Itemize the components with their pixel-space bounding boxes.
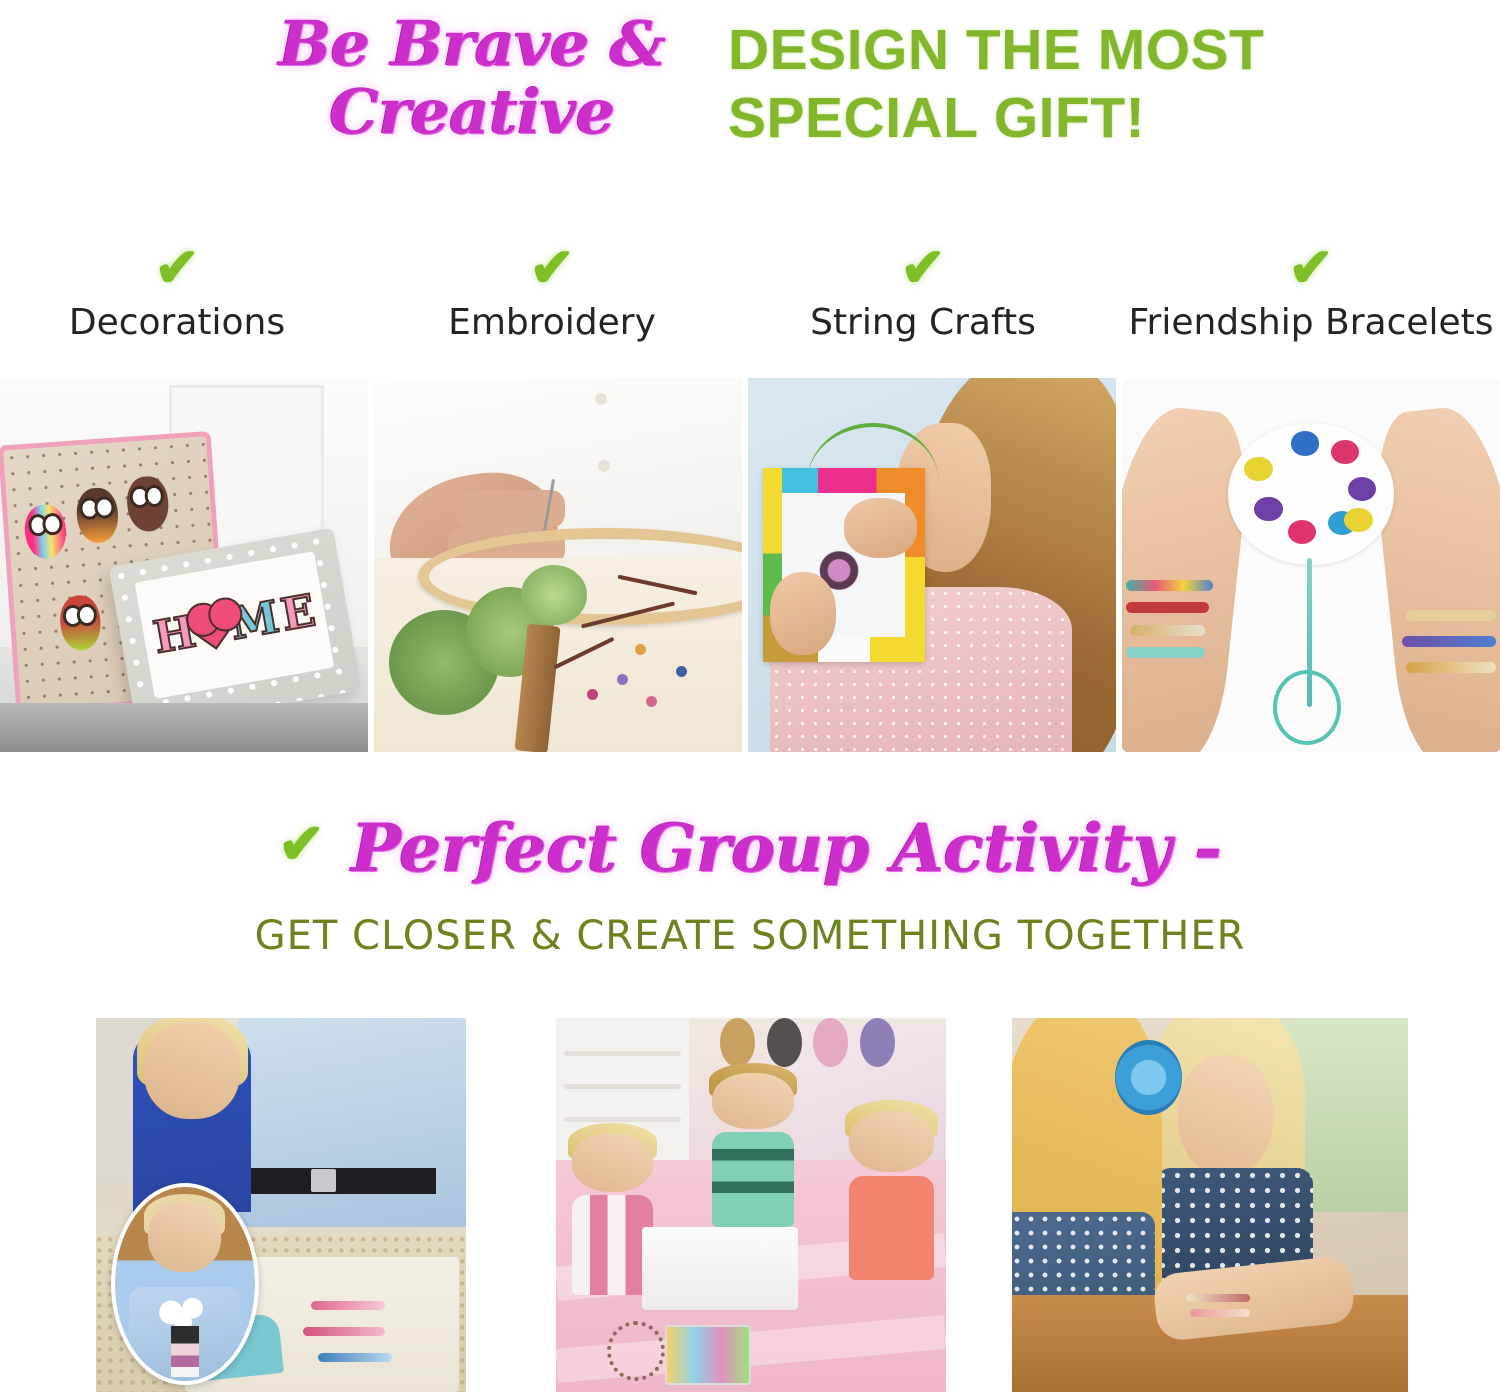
headline-script-line2: Creative <box>232 76 712 148</box>
check-icon: ✔ <box>432 240 672 296</box>
group-activity-section: ✔ Perfect Group Activity - GET CLOSER & … <box>0 805 1500 1000</box>
top-photo-row: H M E <box>0 378 1500 754</box>
headline-green: DESIGN THE MOST SPECIAL GIFT! <box>728 16 1368 152</box>
feature-label: String Crafts <box>798 302 1048 343</box>
photo-friendship-bracelets <box>1122 378 1500 752</box>
photo-family-crafting <box>96 1018 466 1392</box>
inset-portrait <box>111 1183 259 1385</box>
heart-icon <box>193 608 235 650</box>
check-icon: ✔ <box>52 240 302 296</box>
feature-item-decorations: ✔ Decorations <box>52 240 302 343</box>
header-banner: Be Brave & Creative DESIGN THE MOST SPEC… <box>0 0 1500 195</box>
feature-item-embroidery: ✔ Embroidery <box>432 240 672 343</box>
group-activity-heading: ✔ Perfect Group Activity - <box>278 805 1222 891</box>
photo-decorations: H M E <box>0 378 368 752</box>
home-letter-e: E <box>278 590 319 639</box>
feature-list: ✔ Decorations ✔ Embroidery ✔ String Craf… <box>0 240 1500 370</box>
feature-item-string-crafts: ✔ String Crafts <box>798 240 1048 343</box>
bottom-photo-row <box>0 1018 1500 1392</box>
feature-label: Friendship Bracelets <box>1122 302 1500 343</box>
feature-label: Decorations <box>52 302 302 343</box>
home-pillow-text: H M E <box>135 551 335 699</box>
check-icon: ✔ <box>1122 240 1500 296</box>
photo-two-girls-bracelets <box>1012 1018 1408 1392</box>
photo-string-crafts <box>748 378 1116 752</box>
feature-label: Embroidery <box>432 302 672 343</box>
group-activity-subtitle: GET CLOSER & CREATE SOMETHING TOGETHER <box>0 913 1500 959</box>
group-activity-title: Perfect Group Activity - <box>351 805 1222 891</box>
check-icon: ✔ <box>278 811 325 877</box>
check-icon: ✔ <box>798 240 1048 296</box>
feature-item-friendship-bracelets: ✔ Friendship Bracelets <box>1122 240 1500 343</box>
photo-kids-group <box>556 1018 946 1392</box>
photo-embroidery <box>374 378 742 752</box>
headline-script-line1: Be Brave & <box>279 7 666 80</box>
headline-script: Be Brave & Creative <box>232 8 712 148</box>
